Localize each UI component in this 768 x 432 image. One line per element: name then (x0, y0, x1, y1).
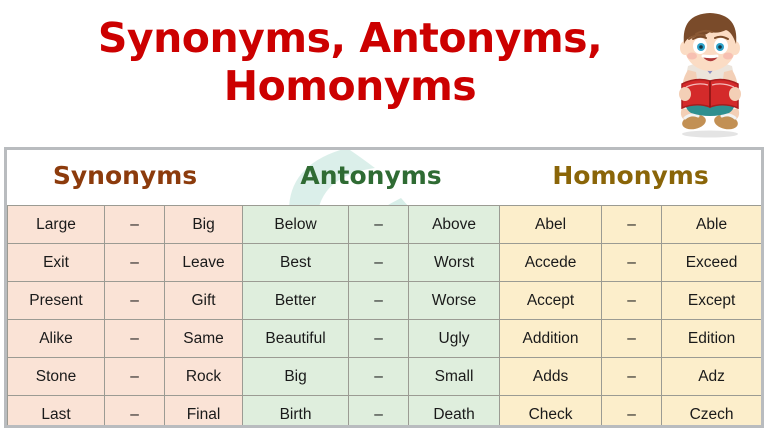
cell-antonym-pair-6: Death (409, 396, 500, 429)
cell-synonym-word-4: Alike (8, 320, 105, 358)
cell-homonym-dash-1: – (602, 206, 662, 244)
cell-antonym-dash-6: – (349, 396, 409, 429)
column-header-synonyms: Synonyms (8, 150, 243, 206)
cell-antonym-dash-4: – (349, 320, 409, 358)
cell-homonym-word-6: Check (500, 396, 602, 429)
cell-antonym-dash-2: – (349, 244, 409, 282)
table-row: Exit – Leave Best – Worst Accede – Excee… (8, 244, 762, 282)
cell-synonym-word-5: Stone (8, 358, 105, 396)
cell-synonym-pair-2: Leave (165, 244, 243, 282)
cell-antonym-word-1: Below (243, 206, 349, 244)
table-row: Present – Gift Better – Worse Accept – E… (8, 282, 762, 320)
cell-synonym-word-6: Last (8, 396, 105, 429)
page-title: Synonyms, Antonyms, Homonyms (0, 14, 700, 110)
cell-synonym-word-1: Large (8, 206, 105, 244)
column-header-homonyms: Homonyms (500, 150, 762, 206)
cell-synonym-dash-6: – (105, 396, 165, 429)
title-header: Synonyms, Antonyms, Homonyms (0, 0, 768, 147)
cell-homonym-pair-3: Except (662, 282, 762, 320)
cell-synonym-dash-1: – (105, 206, 165, 244)
cell-homonym-pair-6: Czech (662, 396, 762, 429)
table-row: Large – Big Below – Above Abel – Able (8, 206, 762, 244)
cell-synonym-pair-1: Big (165, 206, 243, 244)
table-row: Alike – Same Beautiful – Ugly Addition –… (8, 320, 762, 358)
cell-synonym-pair-3: Gift (165, 282, 243, 320)
table-header-row: Synonyms Antonyms Homonyms (8, 150, 762, 206)
cell-antonym-dash-1: – (349, 206, 409, 244)
cell-homonym-dash-5: – (602, 358, 662, 396)
cell-homonym-pair-5: Adz (662, 358, 762, 396)
cell-homonym-word-2: Accede (500, 244, 602, 282)
cell-synonym-word-2: Exit (8, 244, 105, 282)
cell-homonym-dash-3: – (602, 282, 662, 320)
word-pairs-table: Synonyms Antonyms Homonyms Large – Big B… (7, 150, 762, 428)
table-row: Stone – Rock Big – Small Adds – Adz (8, 358, 762, 396)
cell-antonym-pair-1: Above (409, 206, 500, 244)
cell-synonym-pair-6: Final (165, 396, 243, 429)
cell-homonym-pair-2: Exceed (662, 244, 762, 282)
table-row: Last – Final Birth – Death Check – Czech (8, 396, 762, 429)
cell-homonym-dash-2: – (602, 244, 662, 282)
cell-homonym-dash-4: – (602, 320, 662, 358)
cell-synonym-dash-5: – (105, 358, 165, 396)
cell-antonym-dash-5: – (349, 358, 409, 396)
cell-antonym-pair-3: Worse (409, 282, 500, 320)
boy-reading-book-illustration (658, 8, 762, 140)
cell-homonym-pair-4: Edition (662, 320, 762, 358)
word-pairs-table-container: Synonyms Antonyms Homonyms Large – Big B… (4, 147, 764, 428)
cell-homonym-word-1: Abel (500, 206, 602, 244)
cell-homonym-dash-6: – (602, 396, 662, 429)
cell-homonym-word-4: Addition (500, 320, 602, 358)
cell-antonym-pair-2: Worst (409, 244, 500, 282)
cell-synonym-pair-4: Same (165, 320, 243, 358)
cell-antonym-word-6: Birth (243, 396, 349, 429)
cell-antonym-word-3: Better (243, 282, 349, 320)
cell-antonym-word-4: Beautiful (243, 320, 349, 358)
cell-antonym-pair-4: Ugly (409, 320, 500, 358)
cell-homonym-word-3: Accept (500, 282, 602, 320)
cell-synonym-word-3: Present (8, 282, 105, 320)
cell-synonym-dash-2: – (105, 244, 165, 282)
cell-synonym-dash-4: – (105, 320, 165, 358)
cell-homonym-pair-1: Able (662, 206, 762, 244)
cell-homonym-word-5: Adds (500, 358, 602, 396)
cell-synonym-dash-3: – (105, 282, 165, 320)
cell-antonym-word-5: Big (243, 358, 349, 396)
title-line-2: Homonyms (0, 62, 700, 110)
cell-synonym-pair-5: Rock (165, 358, 243, 396)
cell-antonym-word-2: Best (243, 244, 349, 282)
cell-antonym-dash-3: – (349, 282, 409, 320)
column-header-antonyms: Antonyms (243, 150, 500, 206)
title-line-1: Synonyms, Antonyms, (98, 14, 602, 62)
cell-antonym-pair-5: Small (409, 358, 500, 396)
